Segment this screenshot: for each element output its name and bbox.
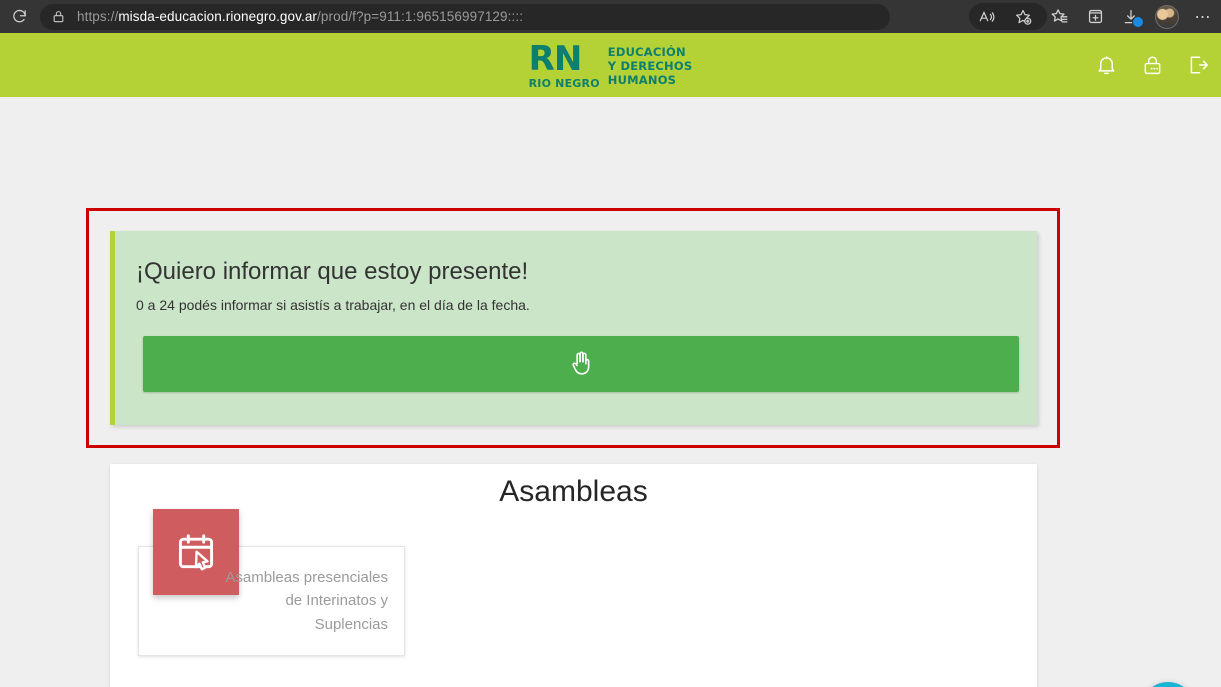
raised-hand-icon: [568, 349, 594, 380]
collections-icon[interactable]: [1077, 3, 1113, 31]
page-body: ¡Quiero informar que estoy presente! 0 a…: [0, 97, 1221, 687]
logo-tagline-line-3: HUMANOS: [608, 73, 693, 87]
help-alert-button[interactable]: [1141, 682, 1195, 687]
favorites-list-icon[interactable]: [1041, 3, 1077, 31]
site-header: RN RIO NEGRO EDUCACIÓN Y DERECHOS HUMANO…: [0, 33, 1221, 97]
browser-toolbar: https://misda-educacion.rionegro.gov.ar/…: [0, 0, 1221, 33]
logo-tagline-line-1: EDUCACIÓN: [608, 45, 693, 59]
brand-logo[interactable]: RN RIO NEGRO EDUCACIÓN Y DERECHOS HUMANO…: [0, 33, 1221, 97]
url-text[interactable]: https://misda-educacion.rionegro.gov.ar/…: [77, 9, 523, 24]
report-presence-button[interactable]: [143, 336, 1019, 392]
refresh-icon[interactable]: [2, 0, 36, 33]
asambleas-section: Asambleas Asambleas presenciales de Inte…: [110, 464, 1037, 687]
presence-alert-panel: ¡Quiero informar que estoy presente! 0 a…: [110, 231, 1037, 425]
download-badge: [1132, 16, 1144, 28]
browser-actions: ⋯: [969, 0, 1221, 33]
read-aloud-icon[interactable]: [969, 3, 1005, 31]
password-icon[interactable]: [1137, 50, 1167, 80]
header-actions: [1091, 33, 1213, 97]
asambleas-section-title: Asambleas: [110, 464, 1037, 509]
presence-alert-title: ¡Quiero informar que estoy presente!: [136, 258, 528, 286]
logo-mark-block: RN RIO NEGRO: [529, 42, 600, 89]
add-favorite-icon[interactable]: [1005, 3, 1041, 31]
logo-tagline: EDUCACIÓN Y DERECHOS HUMANOS: [608, 43, 693, 87]
logo-province-label: RIO NEGRO: [529, 78, 600, 89]
asambleas-tile-label: Asambleas presenciales de Interinatos y …: [208, 566, 388, 636]
more-icon[interactable]: ⋯: [1185, 3, 1221, 31]
logout-icon[interactable]: [1183, 50, 1213, 80]
logo-tagline-line-2: Y DERECHOS: [608, 59, 693, 73]
asambleas-tile[interactable]: Asambleas presenciales de Interinatos y …: [138, 546, 405, 656]
address-bar[interactable]: https://misda-educacion.rionegro.gov.ar/…: [40, 4, 890, 30]
downloads-icon[interactable]: [1113, 3, 1149, 31]
notifications-icon[interactable]: [1091, 50, 1121, 80]
profile-avatar[interactable]: [1149, 3, 1185, 31]
lock-icon[interactable]: [52, 9, 65, 24]
presence-alert-subtitle: 0 a 24 podés informar si asistís a traba…: [136, 297, 530, 313]
logo-mark: RN: [529, 42, 600, 76]
